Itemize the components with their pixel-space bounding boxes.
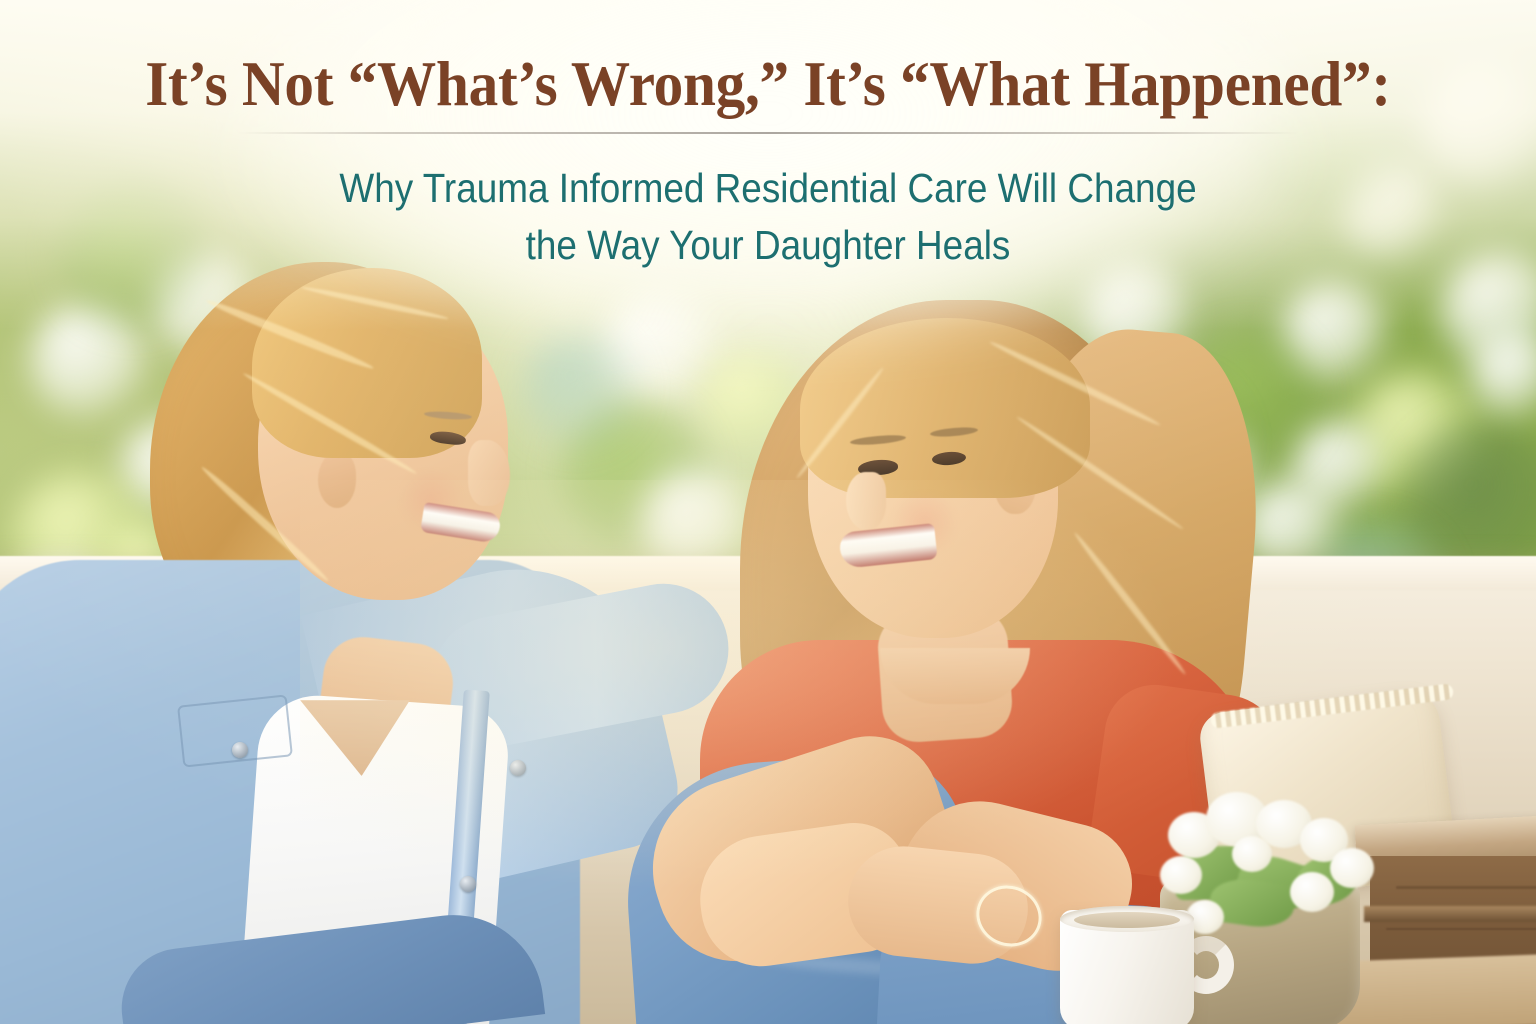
title-divider [238,132,1298,134]
banner-header: It’s Not “What’s Wrong,” It’s “What Happ… [0,0,1536,273]
mother-nose [468,440,510,506]
banner-image: It’s Not “What’s Wrong,” It’s “What Happ… [0,0,1536,1024]
subtitle-line-1: Why Trauma Informed Residential Care Wil… [314,160,1223,217]
mug-interior [1074,912,1180,928]
side-table-edge [1364,906,1536,922]
wood-grain [1396,886,1536,889]
mother-ear [318,452,356,508]
page-title: It’s Not “What’s Wrong,” It’s “What Happ… [46,52,1490,116]
mother-jacket-button [460,876,476,892]
daughter-nose [846,472,886,530]
wood-grain [1386,928,1536,930]
flower-bloom [1290,872,1334,912]
flower-bloom [1160,856,1202,894]
mother-jacket-button [510,760,526,776]
flower-bloom [1232,836,1272,872]
bokeh-disc [520,330,640,450]
subtitle-line-2: the Way Your Daughter Heals [314,217,1223,274]
mother-jacket-button [232,742,248,758]
flower-bloom [1330,848,1374,888]
page-subtitle: Why Trauma Informed Residential Care Wil… [314,160,1223,273]
